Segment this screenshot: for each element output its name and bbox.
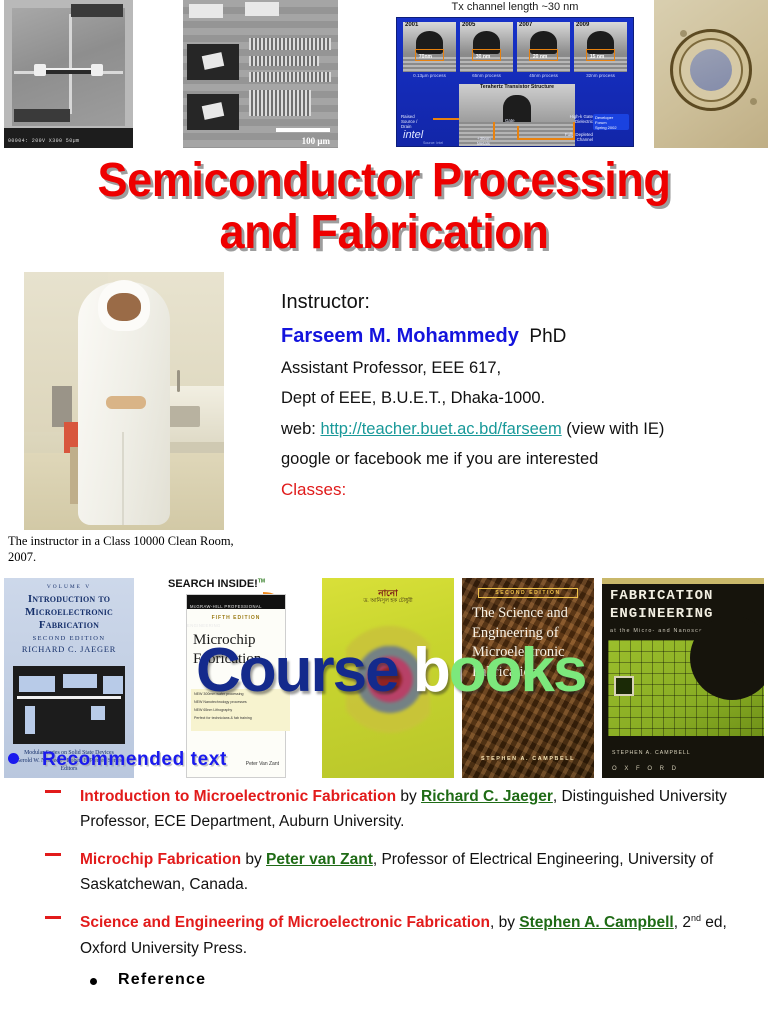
slide-title: Semiconductor Processing and Fabrication [23, 155, 745, 259]
instructor-website-link[interactable]: http://teacher.buet.ac.bd/farseem [320, 420, 561, 438]
cleanroom-sink [168, 406, 200, 427]
slide-title-line-2: and Fabrication [23, 207, 745, 259]
cleanroom-gray-bin [52, 386, 72, 427]
intel-process-label: 0.13µm process [403, 73, 456, 81]
book-author: Peter van Zant [266, 851, 373, 868]
bullet-dot-icon [90, 978, 97, 985]
book-title: Science and Engineering of Microelectron… [80, 914, 490, 931]
intel-source-label: Source: Intel [423, 141, 443, 145]
wafer-contact-photo-image [654, 0, 768, 148]
van-zant-bullet: Perfect for technicians & fab training [194, 716, 290, 720]
jaeger-via-2 [91, 706, 105, 720]
instructor-degree: PhD [529, 326, 566, 347]
reading-item-text: Microchip Fabrication by Peter van Zant,… [80, 847, 768, 897]
book-edition-pre: , 2 [674, 914, 691, 931]
sem-anchor-right [91, 64, 103, 76]
intel-thumb-year: 2001 [405, 22, 418, 28]
instructor-web-line: web: http://teacher.buet.ac.bd/farseem (… [281, 421, 761, 438]
intel-process-label-row: 0.13µm process 65nm process 45nm process… [403, 73, 627, 81]
recommended-text-heading-row: Recommended text [0, 749, 768, 771]
book-author: Stephen A. Campbell [519, 914, 673, 931]
course-books-wordart: Course books [196, 636, 616, 706]
jaeger-volume: VOLUME V [10, 584, 128, 590]
intel-node-label: 15 nm [590, 54, 604, 60]
instructor-details: Instructor: Farseem M. Mohammedy PhD Ass… [281, 292, 761, 512]
die-circuit-block-4 [249, 90, 311, 116]
intel-pointer-5 [573, 122, 575, 140]
search-inside-tm: TM [258, 578, 265, 584]
instructor-name-line: Farseem M. Mohammedy PhD [281, 326, 761, 347]
reading-list-item: Science and Engineering of Microelectron… [0, 910, 768, 960]
intel-pointer-4 [517, 138, 573, 140]
dash-bullet-icon [45, 916, 61, 919]
intel-thumb-year: 2007 [519, 22, 532, 28]
intel-pointer-2 [493, 122, 495, 140]
wafer-contact-disc [690, 49, 732, 91]
fabeng-square-detail [614, 676, 634, 696]
book-edition-ordinal: nd [691, 913, 701, 923]
reading-list-item: Introduction to Microelectronic Fabricat… [0, 784, 768, 834]
by-word: by [396, 788, 421, 805]
van-zant-edition: FIFTH EDITION [187, 615, 285, 621]
die-circuit-block-1 [249, 38, 331, 50]
intel-thumb: 200530 nm [460, 22, 513, 72]
sem-label-bottom [14, 109, 70, 122]
wordart-books-ooks: ooks [449, 636, 586, 705]
wordart-books-b: b [413, 636, 449, 705]
dash-bullet-icon [45, 790, 61, 793]
jaeger-layer-1 [19, 676, 55, 692]
slide-title-line-1: Semiconductor Processing [23, 155, 745, 207]
instructor-photo [24, 272, 224, 530]
die-scale-bar [276, 128, 330, 132]
by-word: by [241, 851, 266, 868]
fabeng-title-line-2: ENGINEERING [610, 606, 713, 624]
intel-node-label: 30 nm [476, 54, 490, 60]
die-circuit-block-2 [249, 56, 319, 66]
sem-vertical-trace [69, 14, 72, 114]
reading-list-item: Microchip Fabrication by Peter van Zant,… [0, 847, 768, 897]
header-image-strip: 00004: 200V X300 50µm 100 μm Tx channel … [0, 0, 768, 155]
web-note: (view with IE) [566, 420, 664, 438]
die-bondwire-1 [189, 4, 223, 18]
intel-node-label: 20 nm [533, 54, 547, 60]
bengali-author: ড. আনিসুল হক চৌধুরী [322, 598, 454, 606]
reference-heading-row: Reference [0, 971, 768, 989]
reading-item-text: Science and Engineering of Microelectron… [80, 910, 768, 960]
dash-bullet-icon [45, 853, 61, 856]
sem-micrograph-die-image: 100 μm [183, 0, 338, 148]
jaeger-edition: SECOND EDITION [10, 635, 128, 642]
web-label: web: [281, 420, 316, 438]
sem-micrograph-mems-image: 00004: 200V X300 50µm [4, 0, 133, 148]
die-circuit-block-3 [249, 72, 331, 82]
book-author: Richard C. Jaeger [421, 788, 553, 805]
sem-scale-text: 00004: 200V X300 50µm [8, 138, 79, 144]
jaeger-layer-3 [103, 676, 123, 694]
reading-list: Recommended text Introduction to Microel… [0, 745, 768, 989]
intel-figure: Tx channel length ~30 nm 200170nm 200530… [390, 0, 640, 150]
instructor-position: Assistant Professor, EEE 617, [281, 360, 761, 377]
fabeng-title-line-1: FABRICATION [610, 588, 713, 606]
jaeger-title: Introduction to Microelectronic Fabricat… [10, 593, 128, 632]
wafer-speck-1 [680, 30, 687, 37]
reading-item-text: Introduction to Microelectronic Fabricat… [80, 784, 768, 834]
jaeger-author: RICHARD C. JAEGER [10, 645, 128, 654]
instructor-department: Dept of EEE, B.U.E.T., Dhaka-1000. [281, 390, 761, 407]
intel-process-label: 65nm process [460, 73, 513, 81]
intel-thumb-year: 2005 [462, 22, 475, 28]
fabeng-swoosh [690, 616, 764, 700]
instructor-leg-split [122, 432, 124, 525]
bullet-dot-icon [8, 753, 19, 764]
instructor-face [107, 293, 141, 321]
die-bondwire-2 [245, 2, 279, 16]
search-inside-word: SEARCH INSIDE! [168, 578, 258, 590]
intel-process-label: 45nm process [517, 73, 570, 81]
intel-developer-forum-badge: Developer Forum Spring 2002 [593, 114, 629, 130]
die-scale-label: 100 μm [302, 136, 330, 146]
wordart-course: Course [196, 636, 398, 705]
intel-badge-text: Developer Forum Spring 2002 [595, 116, 617, 130]
intel-thumbnail-row: 200170nm 200530 nm 200720 nm 200915 nm [403, 22, 627, 72]
by-word: , by [490, 914, 519, 931]
sem-anchor-left [34, 64, 46, 76]
jaeger-via-1 [25, 706, 35, 734]
sem-label-top [71, 4, 123, 17]
fabeng-top-stripe [602, 578, 764, 584]
intel-figure-caption: Tx channel length ~30 nm [390, 1, 640, 13]
intel-process-label: 32nm process [574, 73, 627, 81]
intel-thumb: 200170nm [403, 22, 456, 72]
fabeng-subtitle: at the Micro- and Nanoscale [610, 628, 710, 634]
intel-slide-image: 200170nm 200530 nm 200720 nm 200915 nm 0… [396, 17, 634, 147]
intel-annotation-left: Raised Source / Drain [401, 114, 417, 129]
intel-node-label: 70nm [419, 54, 432, 60]
intel-terahertz-caption: Terahertz Transistor Structure [459, 84, 575, 90]
recommended-text-heading: Recommended text [42, 749, 227, 770]
jaeger-cross-section-figure [13, 666, 125, 744]
van-zant-bullet: NEW 65nm Lithography [194, 708, 290, 712]
intel-thumb-year: 2009 [576, 22, 589, 28]
campbell-edition: SECOND EDITION [478, 588, 578, 598]
search-inside-badge: SEARCH INSIDE!TM [168, 578, 265, 590]
cleanroom-faucet-1 [177, 370, 180, 392]
intel-thumb: 200720 nm [517, 22, 570, 72]
instructor-heading: Instructor: [281, 292, 761, 313]
intel-pointer-1 [433, 118, 459, 120]
instructor-social-note: google or facebook me if you are interes… [281, 451, 761, 468]
jaeger-metal-line [17, 696, 121, 699]
intel-logo: intel [403, 129, 423, 141]
jaeger-text-block: VOLUME V Introduction to Microelectronic… [10, 584, 128, 654]
reference-heading: Reference [118, 971, 206, 988]
wafer-speck-2 [750, 98, 757, 105]
instructor-name: Farseem M. Mohammedy [281, 325, 519, 347]
instructor-gloved-hands [106, 396, 146, 409]
jaeger-layer-2 [63, 674, 97, 688]
intel-annotation-metals: +30nm Metals [477, 136, 491, 146]
van-zant-imprint-bar: McGRAW-HILL PROFESSIONAL ENGINEERING [187, 595, 285, 609]
classes-label: Classes: [281, 481, 761, 499]
fabeng-title: FABRICATION ENGINEERING [610, 588, 713, 623]
intel-annotation-gate: Gate [505, 118, 515, 123]
instructor-photo-caption: The instructor in a Class 10000 Clean Ro… [8, 534, 236, 565]
book-title: Introduction to Microelectronic Fabricat… [80, 788, 396, 805]
intel-thumb: 200915 nm [574, 22, 627, 72]
slide-root: 00004: 200V X300 50µm 100 μm Tx channel … [0, 0, 768, 1024]
book-title: Microchip Fabrication [80, 851, 241, 868]
